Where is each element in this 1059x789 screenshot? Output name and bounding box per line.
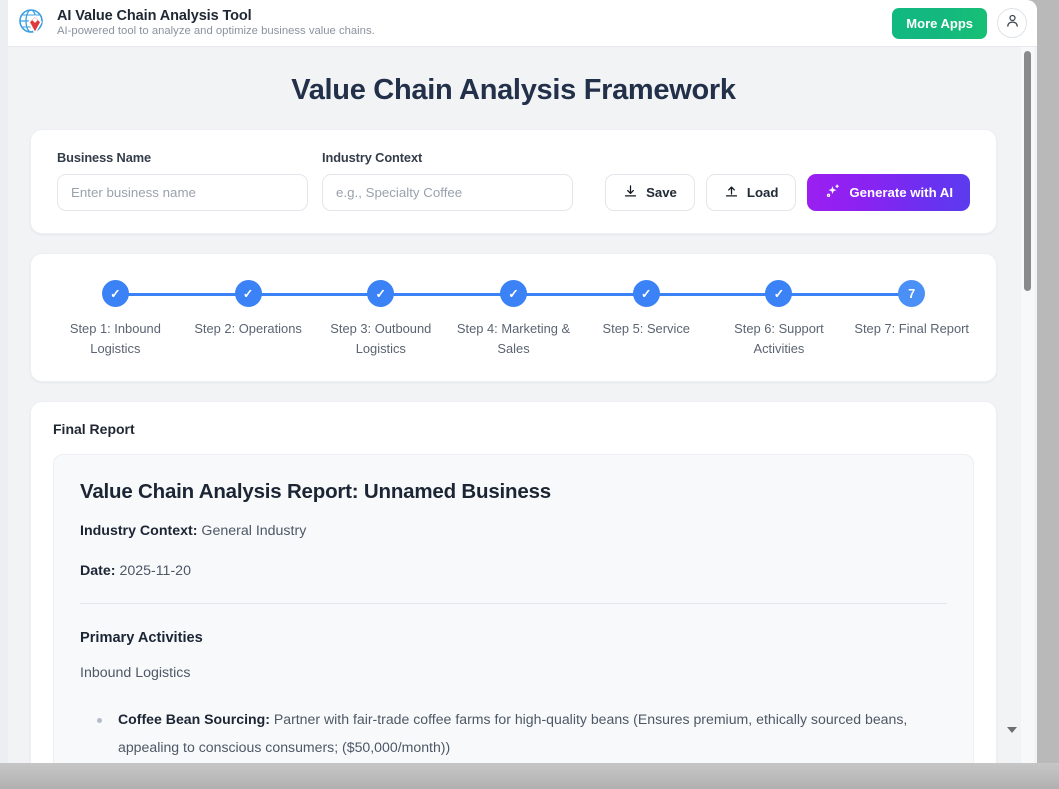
app-header: AI Value Chain Analysis Tool AI-powered …	[8, 0, 1037, 47]
stepper-step-7[interactable]: 7Step 7: Final Report	[845, 280, 978, 359]
app-subtitle: AI-powered tool to analyze and optimize …	[57, 25, 375, 38]
vertical-scrollbar-track[interactable]	[1021, 47, 1034, 763]
business-name-label: Business Name	[57, 150, 308, 165]
report-industry-context: Industry Context: General Industry	[80, 523, 947, 539]
page-title: Value Chain Analysis Framework	[30, 47, 997, 129]
main-content: Value Chain Analysis Framework Business …	[8, 47, 1021, 763]
stepper-step-5[interactable]: ✓Step 5: Service	[580, 280, 713, 359]
globe-diamond-logo-icon	[16, 7, 48, 39]
stepper-label-3: Step 3: Outbound Logistics	[317, 319, 445, 359]
generate-button-label: Generate with AI	[849, 185, 953, 200]
stepper-label-6: Step 6: Support Activities	[715, 319, 843, 359]
stepper-marker-5: ✓	[633, 280, 660, 307]
final-report-card: Final Report Value Chain Analysis Report…	[30, 401, 997, 763]
stepper-label-7: Step 7: Final Report	[854, 319, 969, 339]
stepper-step-1[interactable]: ✓Step 1: Inbound Logistics	[49, 280, 182, 359]
load-button[interactable]: Load	[706, 174, 797, 211]
vertical-scrollbar-thumb[interactable]	[1024, 51, 1031, 291]
stepper-marker-7: 7	[898, 280, 925, 307]
window-right-chrome	[1037, 0, 1059, 763]
stepper-marker-2: ✓	[235, 280, 262, 307]
activity-list-item: Coffee Bean Sourcing: Partner with fair-…	[90, 705, 947, 761]
stepper-step-4[interactable]: ✓Step 4: Marketing & Sales	[447, 280, 580, 359]
activity-term: Coffee Bean Sourcing:	[118, 711, 270, 727]
header-actions: More Apps	[892, 8, 1027, 39]
industry-context-label: Industry Context	[322, 150, 573, 165]
brand: AI Value Chain Analysis Tool AI-powered …	[16, 7, 375, 39]
report-divider	[80, 603, 947, 604]
report-industry-value: General Industry	[201, 523, 306, 539]
stepper-marker-4: ✓	[500, 280, 527, 307]
activity-list: Coffee Bean Sourcing: Partner with fair-…	[80, 705, 947, 761]
industry-context-field: Industry Context	[322, 150, 573, 211]
stepper-label-4: Step 4: Marketing & Sales	[450, 319, 578, 359]
industry-context-input[interactable]	[322, 174, 573, 211]
scroll-down-arrow-icon[interactable]	[1007, 727, 1017, 733]
generate-with-ai-button[interactable]: Generate with AI	[807, 174, 970, 211]
stepper-label-2: Step 2: Operations	[194, 319, 302, 339]
stepper-label-5: Step 5: Service	[603, 319, 690, 339]
app-title: AI Value Chain Analysis Tool	[57, 8, 375, 25]
save-button-label: Save	[646, 185, 677, 200]
primary-activities-heading: Primary Activities	[80, 630, 947, 646]
report-date-label: Date:	[80, 563, 115, 579]
business-name-field: Business Name	[57, 150, 308, 211]
input-form-card: Business Name Industry Context	[30, 129, 997, 234]
report-industry-label: Industry Context:	[80, 523, 197, 539]
final-report-heading: Final Report	[53, 421, 974, 437]
inbound-logistics-subheading: Inbound Logistics	[80, 665, 947, 681]
screen: AI Value Chain Analysis Tool AI-powered …	[0, 0, 1059, 789]
report-title: Value Chain Analysis Report: Unnamed Bus…	[80, 480, 947, 504]
stepper-step-6[interactable]: ✓Step 6: Support Activities	[713, 280, 846, 359]
form-button-group: Save Load	[605, 174, 970, 211]
user-icon	[1005, 13, 1020, 33]
window-left-chrome	[0, 0, 8, 763]
stepper-marker-1: ✓	[102, 280, 129, 307]
report-date: Date: 2025-11-20	[80, 563, 947, 579]
load-button-label: Load	[747, 185, 779, 200]
form-row: Business Name Industry Context	[57, 150, 970, 211]
upload-icon	[724, 184, 739, 202]
progress-stepper-card: ✓Step 1: Inbound Logistics✓Step 2: Opera…	[30, 253, 997, 382]
sparkles-icon	[824, 183, 841, 203]
stepper-marker-6: ✓	[765, 280, 792, 307]
report-date-value: 2025-11-20	[119, 563, 191, 579]
progress-stepper: ✓Step 1: Inbound Logistics✓Step 2: Opera…	[49, 280, 978, 359]
more-apps-button[interactable]: More Apps	[892, 8, 987, 39]
app-window: AI Value Chain Analysis Tool AI-powered …	[8, 0, 1037, 763]
stepper-step-3[interactable]: ✓Step 3: Outbound Logistics	[314, 280, 447, 359]
download-icon	[623, 184, 638, 202]
stepper-marker-3: ✓	[367, 280, 394, 307]
stepper-label-1: Step 1: Inbound Logistics	[51, 319, 179, 359]
user-avatar-button[interactable]	[997, 8, 1027, 38]
business-name-input[interactable]	[57, 174, 308, 211]
save-button[interactable]: Save	[605, 174, 695, 211]
window-bottom-chrome	[0, 763, 1059, 789]
main-scroll-area: Value Chain Analysis Framework Business …	[8, 47, 1037, 763]
brand-text: AI Value Chain Analysis Tool AI-powered …	[57, 8, 375, 39]
report-body: Value Chain Analysis Report: Unnamed Bus…	[53, 454, 974, 763]
stepper-step-2[interactable]: ✓Step 2: Operations	[182, 280, 315, 359]
